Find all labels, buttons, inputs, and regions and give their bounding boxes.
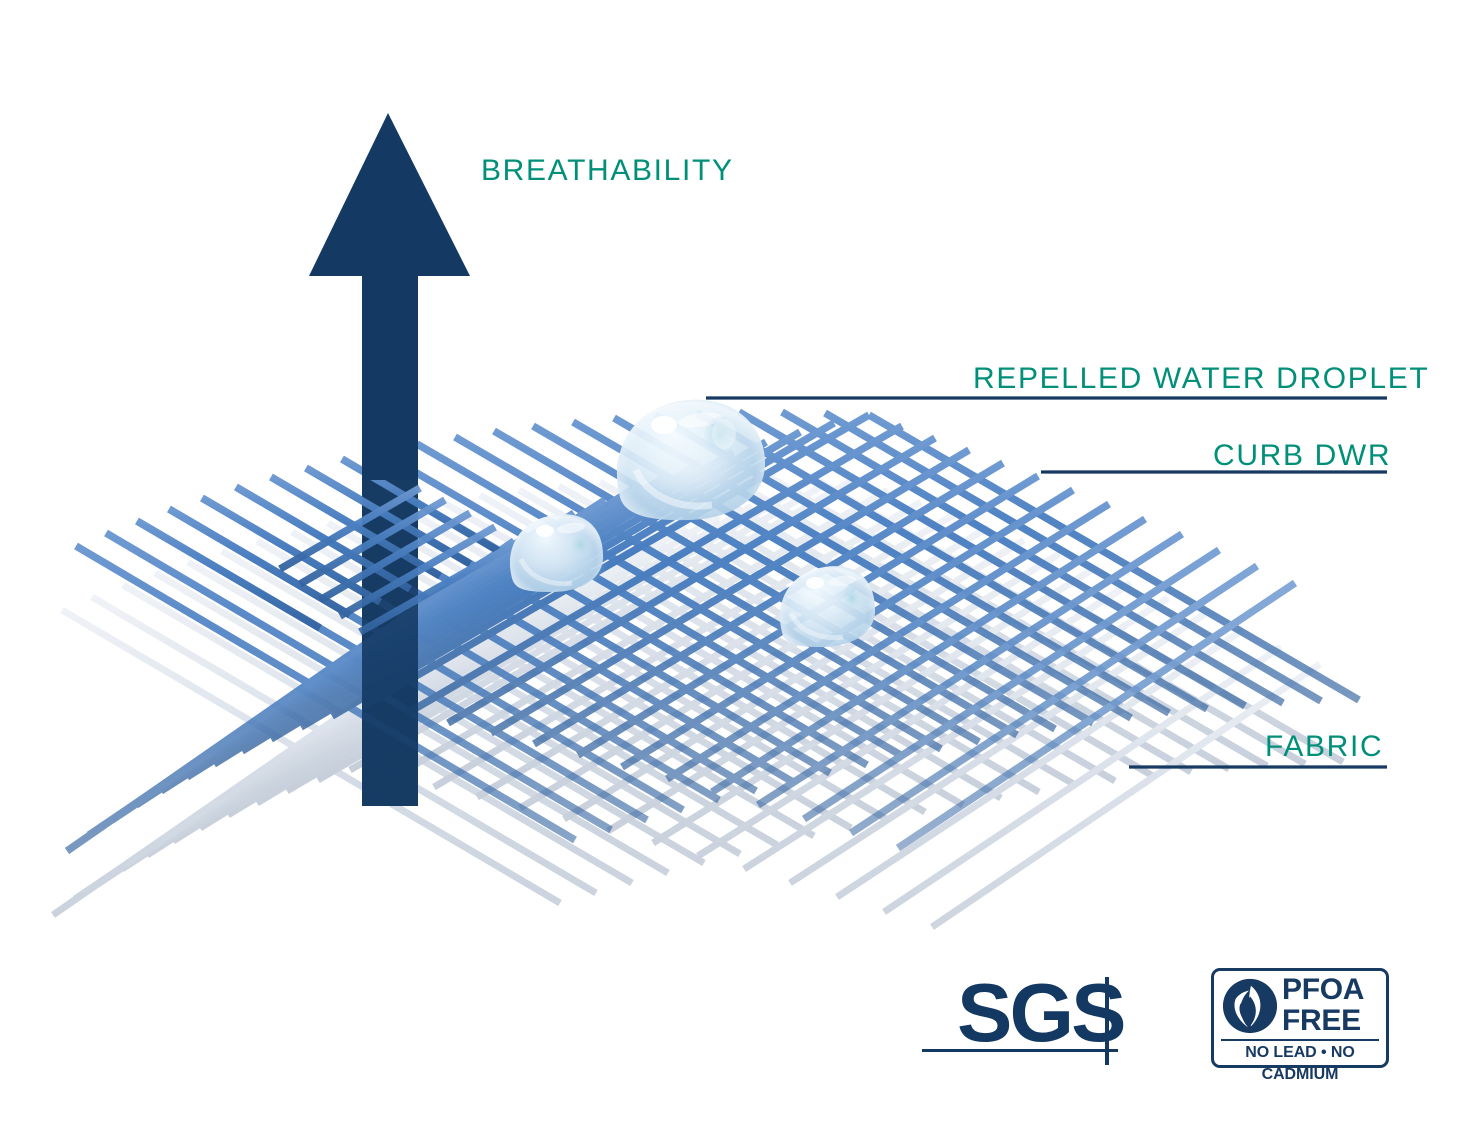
pfoa-line-1: PFOA: [1282, 974, 1364, 1005]
pfoa-free-wordmark: PFOA FREE: [1282, 974, 1364, 1036]
leaf-circle-icon: [1221, 977, 1279, 1035]
breathability-arrow: [309, 113, 470, 480]
sgs-logo-text: SGS: [957, 971, 1124, 1054]
label-repelled-water-droplet: REPELLED WATER DROPLET: [973, 362, 1429, 396]
sgs-logo-vertical-rule: [1105, 977, 1109, 1065]
pfoa-badge-divider: [1221, 1039, 1379, 1041]
pfoa-line-2: FREE: [1282, 1005, 1364, 1036]
label-breathability: BREATHABILITY: [481, 154, 734, 188]
diagram-canvas: BREATHABILITY REPELLED WATER DROPLET CUR…: [0, 0, 1473, 1134]
droplet-small-left: [508, 514, 608, 593]
sgs-logo: SGS: [957, 975, 1117, 1065]
label-fabric: FABRIC: [1265, 730, 1383, 764]
fabric-diagram-illustration: [0, 0, 1473, 1134]
pfoa-free-badge: PFOA FREE NO LEAD • NO CADMIUM: [1211, 968, 1389, 1068]
pfoa-badge-subtitle: NO LEAD • NO CADMIUM: [1214, 1042, 1386, 1086]
label-curb-dwr: CURB DWR: [1213, 439, 1391, 473]
